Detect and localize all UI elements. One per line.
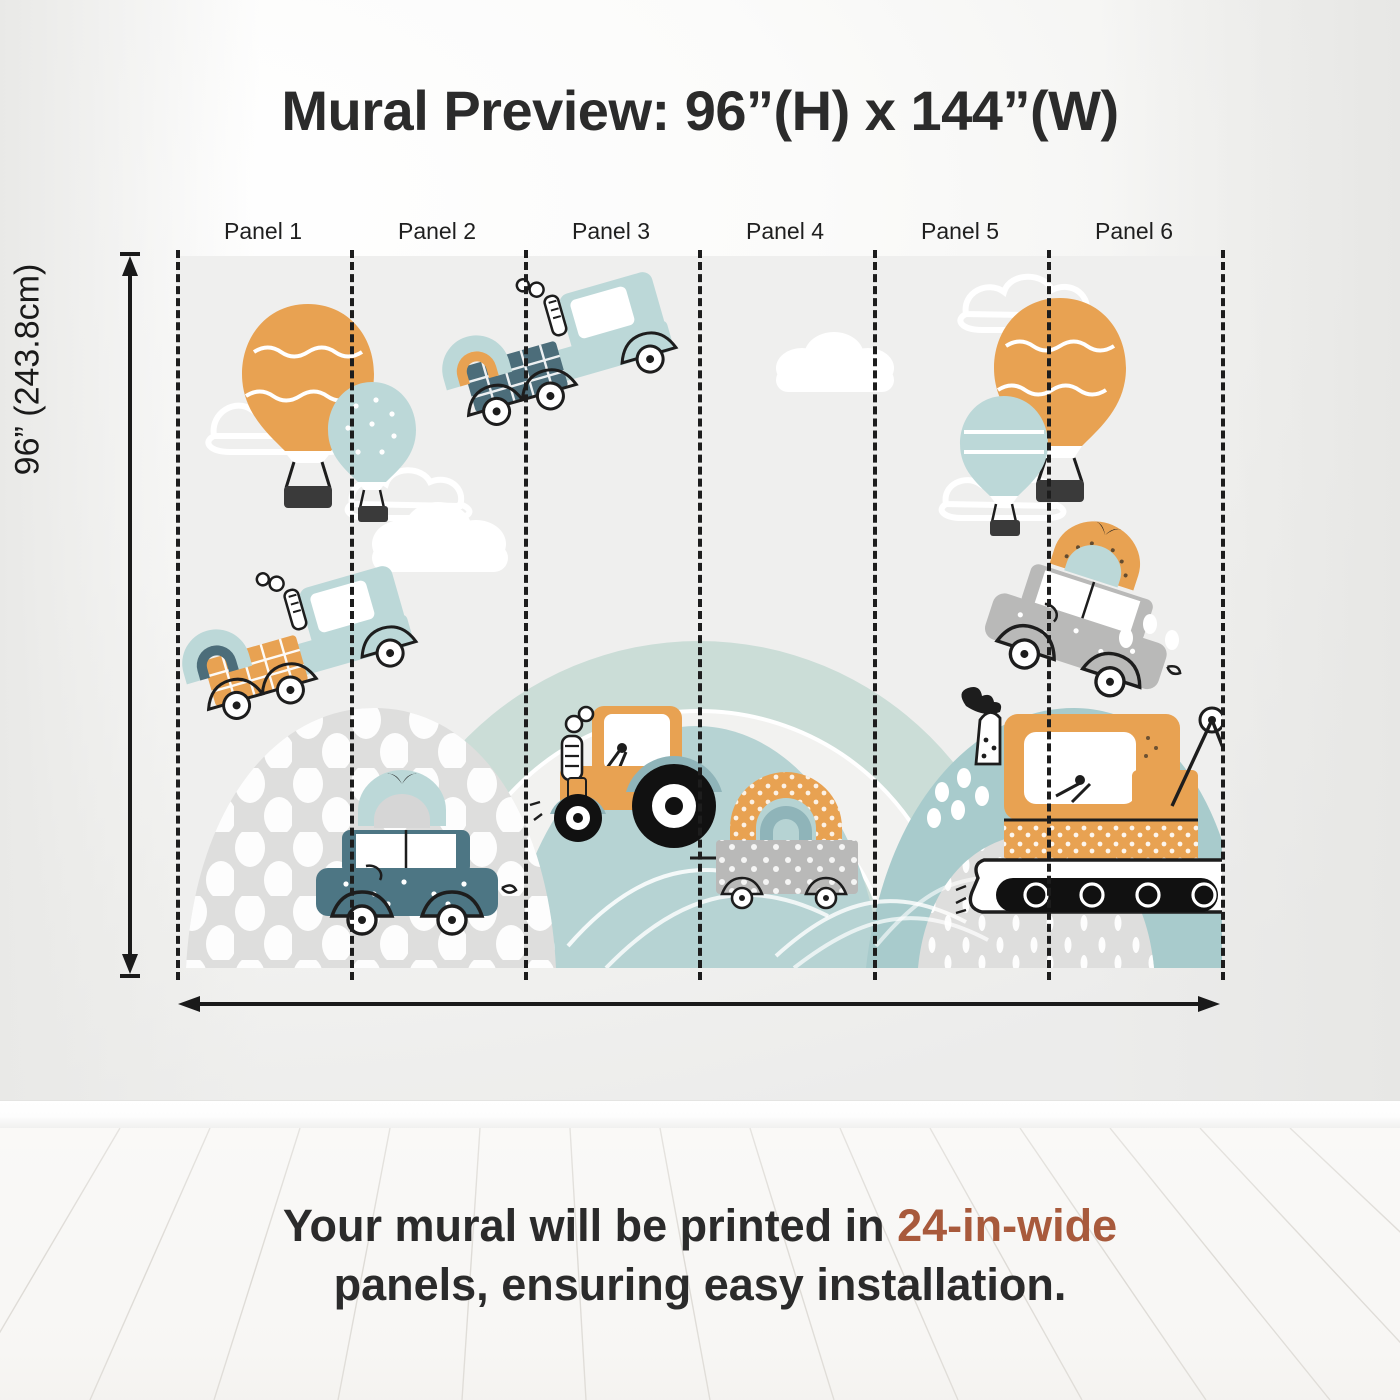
caption-line2: panels, ensuring easy installation. — [334, 1259, 1067, 1310]
panel-label-1: Panel 1 — [176, 218, 350, 245]
panel-divider-0 — [176, 250, 180, 980]
panel-divider-5 — [1047, 250, 1051, 980]
panel-divider-2 — [524, 250, 528, 980]
panel-divider-6 — [1221, 250, 1225, 980]
panel-divider-1 — [350, 250, 354, 980]
caption-highlight: 24-in-wide — [897, 1200, 1117, 1251]
baseboard — [0, 1100, 1400, 1129]
panel-divider-3 — [698, 250, 702, 980]
panel-divider-4 — [873, 250, 877, 980]
mural-preview-screenshot: Mural Preview: 96”(H) x 144”(W) — [0, 0, 1400, 1400]
height-dimension-arrow — [118, 250, 142, 980]
page-title: Mural Preview: 96”(H) x 144”(W) — [0, 78, 1400, 143]
caption-line1-pre: Your mural will be printed in — [283, 1200, 897, 1251]
panel-label-2: Panel 2 — [350, 218, 524, 245]
panel-label-4: Panel 4 — [698, 218, 872, 245]
height-dimension-label: 96” (243.8cm) — [9, 130, 48, 610]
width-dimension-arrow: 144” (365.8cm) — [176, 992, 1222, 1016]
caption: Your mural will be printed in 24-in-wide… — [80, 1196, 1320, 1315]
panel-label-6: Panel 6 — [1047, 218, 1221, 245]
panel-label-5: Panel 5 — [873, 218, 1047, 245]
panel-label-3: Panel 3 — [524, 218, 698, 245]
